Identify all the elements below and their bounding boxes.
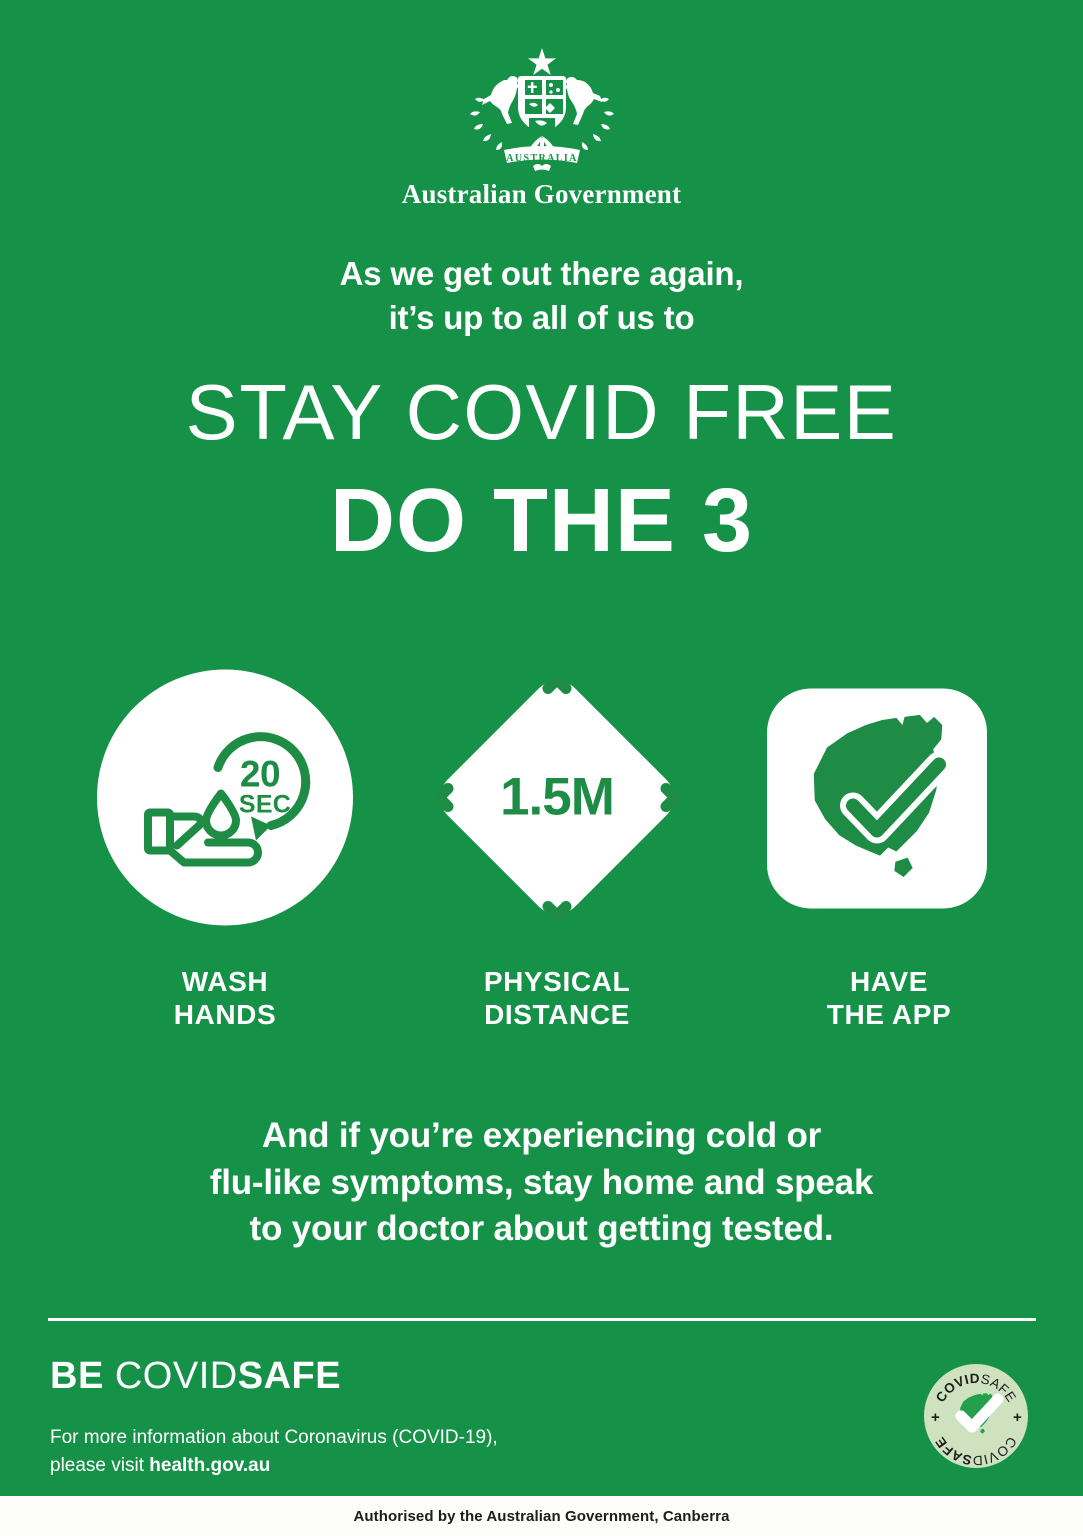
footer-info-line-2: please visit health.gov.au	[50, 1452, 498, 1480]
covidsafe-app-australia-check-icon	[756, 665, 1022, 936]
kicker-line-2: it’s up to all of us to	[0, 296, 1083, 340]
footer-info-line-1: For more information about Coronavirus (…	[50, 1424, 498, 1452]
australian-government-crest-icon: AUSTRALIA	[0, 46, 1083, 172]
label-wash-hands-line-2: HANDS	[92, 998, 358, 1031]
action-icons-row: 20 SEC	[0, 665, 1083, 935]
headline-do-the-3: DO THE 3	[0, 476, 1083, 566]
action-icon-physical-distance: 1.5M	[424, 665, 690, 935]
government-branding: AUSTRALIA Australian Government	[0, 46, 1083, 210]
badge-separator-left: +	[931, 1409, 940, 1426]
label-have-the-app: HAVE THE APP	[756, 965, 1022, 1031]
physical-distance-diamond-icon: 1.5M	[424, 665, 690, 936]
body-copy: And if you’re experiencing cold or flu-l…	[70, 1113, 1013, 1253]
lockup-safe: SAFE	[238, 1355, 341, 1397]
kicker-line-1: As we get out there again,	[0, 252, 1083, 296]
badge-separator-right: +	[1013, 1409, 1022, 1426]
headline-stay-covid-free: STAY COVID FREE	[0, 373, 1083, 451]
action-icon-have-the-app	[756, 665, 1022, 935]
lockup-covid: COVID	[115, 1355, 238, 1397]
poster-canvas: AUSTRALIA Australian Government As we ge…	[0, 0, 1083, 1496]
action-icon-wash-hands: 20 SEC	[92, 665, 358, 935]
svg-text:AUSTRALIA: AUSTRALIA	[506, 153, 578, 164]
label-physical-distance-line-2: DISTANCE	[424, 998, 690, 1031]
be-covidsafe-lockup: BE COVIDSAFE	[50, 1357, 341, 1395]
footer-info-visit-prefix: please visit	[50, 1455, 149, 1476]
authorisation-text: Authorised by the Australian Government,…	[353, 1508, 729, 1525]
body-copy-line-1: And if you’re experiencing cold or	[70, 1113, 1013, 1160]
label-physical-distance: PHYSICAL DISTANCE	[424, 965, 690, 1031]
label-wash-hands-line-1: WASH	[92, 965, 358, 998]
label-wash-hands: WASH HANDS	[92, 965, 358, 1031]
svg-text:20: 20	[240, 754, 280, 795]
label-physical-distance-line-1: PHYSICAL	[424, 965, 690, 998]
action-labels-row: WASH HANDS PHYSICAL DISTANCE HAVE THE AP…	[0, 965, 1083, 1055]
authorisation-strip: Authorised by the Australian Government,…	[0, 1496, 1083, 1536]
footer-url-link[interactable]: health.gov.au	[149, 1455, 270, 1476]
label-have-the-app-line-2: THE APP	[756, 998, 1022, 1031]
svg-text:1.5M: 1.5M	[500, 768, 614, 827]
label-have-the-app-line-1: HAVE	[756, 965, 1022, 998]
kicker-text: As we get out there again, it’s up to al…	[0, 252, 1083, 340]
wash-hands-20-sec-icon: 20 SEC	[92, 665, 358, 936]
covidsafe-circular-badge-icon: COVIDSAFE COVIDSAFE + +	[922, 1362, 1030, 1470]
body-copy-line-2: flu-like symptoms, stay home and speak	[70, 1160, 1013, 1207]
government-name-text: Australian Government	[0, 180, 1083, 210]
lockup-be: BE	[50, 1355, 115, 1397]
body-copy-line-3: to your doctor about getting tested.	[70, 1206, 1013, 1253]
svg-text:SEC: SEC	[239, 791, 291, 819]
footer-info: For more information about Coronavirus (…	[50, 1424, 498, 1479]
footer-divider	[48, 1318, 1036, 1321]
